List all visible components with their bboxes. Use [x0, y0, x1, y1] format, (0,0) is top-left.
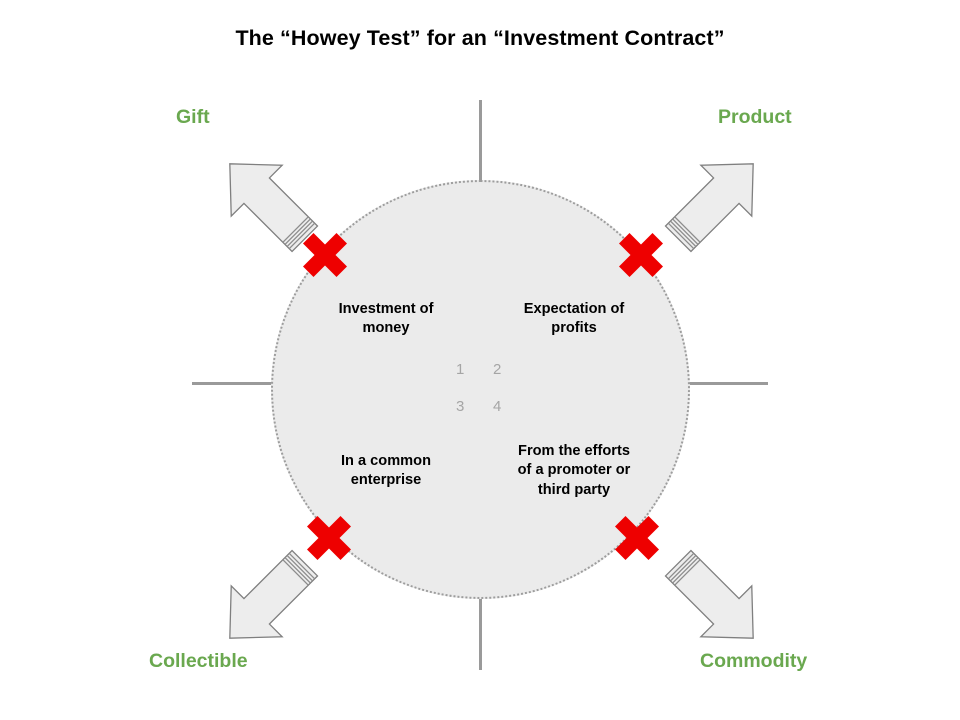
- quadrant-2-line-2: profits: [551, 320, 596, 336]
- slide-canvas: The “Howey Test” for an “Investment Cont…: [0, 0, 960, 720]
- x-mark-icon: [609, 510, 665, 566]
- page-title: The “Howey Test” for an “Investment Cont…: [0, 26, 960, 51]
- quadrant-1-line-1: Investment of: [339, 301, 434, 317]
- quadrant-1-line-2: money: [362, 320, 409, 336]
- quadrant-2-line-1: Expectation of: [524, 301, 625, 317]
- quadrant-number-3: 3: [456, 398, 464, 415]
- quadrant-4-line-3: third party: [538, 482, 610, 498]
- arrow-up-right-icon: [655, 142, 775, 262]
- quadrant-3-line-2: enterprise: [351, 472, 422, 488]
- quadrant-4-text: From the efforts of a promoter or third …: [484, 442, 664, 500]
- quadrant-1-text: Investment of money: [296, 300, 476, 339]
- x-mark-icon: [613, 227, 669, 283]
- corner-label-gift: Gift: [176, 106, 210, 129]
- x-mark-icon: [297, 227, 353, 283]
- quadrant-number-4: 4: [493, 398, 501, 415]
- arrow-down-right-icon: [655, 540, 775, 660]
- quadrant-number-2: 2: [493, 361, 501, 378]
- quadrant-3-text: In a common enterprise: [296, 452, 476, 491]
- x-mark-icon: [301, 510, 357, 566]
- quadrant-4-line-2: of a promoter or: [518, 462, 631, 478]
- quadrant-number-1: 1: [456, 361, 464, 378]
- quadrant-4-line-1: From the efforts: [518, 443, 630, 459]
- quadrant-2-text: Expectation of profits: [484, 300, 664, 339]
- corner-label-product: Product: [718, 106, 792, 129]
- quadrant-3-line-1: In a common: [341, 453, 431, 469]
